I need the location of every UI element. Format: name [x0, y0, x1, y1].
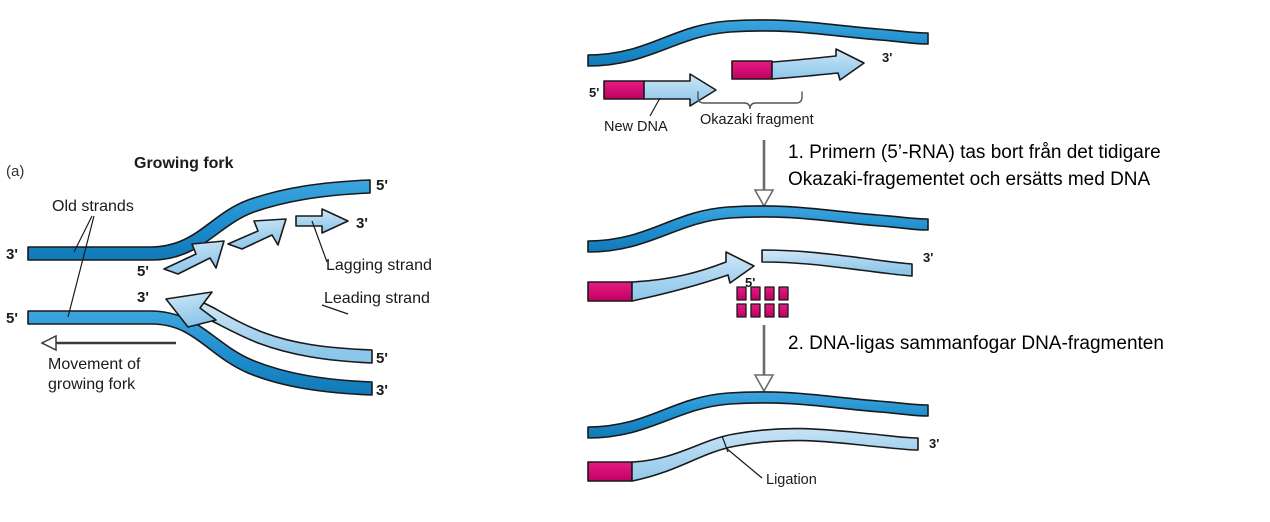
lagging-arrow-2 [228, 219, 286, 249]
ligation-leader [726, 448, 762, 478]
rna-block [765, 304, 774, 317]
step0-template-strand [588, 20, 928, 66]
old-strands-leader-bottom [68, 216, 94, 317]
panel-a-title: Growing fork [134, 155, 234, 172]
step1-okazaki-strand [762, 250, 912, 276]
step0-okazaki-arrow [772, 49, 864, 80]
figure-canvas: (a) Growing fork Lagging strand Leading … [0, 0, 1270, 522]
step1-primer-left [588, 282, 632, 301]
step-arrow-2-head-icon [755, 375, 773, 391]
rna-block [779, 287, 788, 300]
step2-primer-left [588, 462, 632, 481]
new-dna-leader [650, 98, 660, 116]
step-arrow-1-head-icon [755, 190, 773, 206]
movement-label-line2: growing fork [48, 376, 136, 393]
panel-a-letter: (a) [6, 163, 24, 180]
step1-label-3prime: 3' [923, 250, 933, 265]
step0-primer-left [604, 81, 644, 99]
step1-template-strand [588, 206, 928, 252]
dna-replication-diagram: (a) Growing fork Lagging strand Leading … [0, 0, 1270, 522]
step-arrow-2 [755, 325, 773, 391]
ligation-label: Ligation [766, 472, 817, 488]
label-5prime-leading-new: 5' [376, 350, 388, 367]
label-5prime-template-left: 5' [6, 310, 18, 327]
leading-strand-label: Leading strand [324, 290, 430, 307]
rna-block [765, 287, 774, 300]
panel-b-step0: New DNA Okazaki fragment 5' 3' [588, 20, 928, 135]
okazaki-fragment-label: Okazaki fragment [700, 112, 814, 128]
caption-1-line-2: Okazaki-fragementet och ersätts med DNA [788, 169, 1151, 190]
movement-arrow-head-icon [42, 336, 56, 350]
rna-block [779, 304, 788, 317]
label-5prime-lagging-new: 5' [137, 263, 149, 280]
label-5prime-template-topright: 5' [376, 177, 388, 194]
step0-label-3prime: 3' [882, 50, 892, 65]
step0-new-dna-arrow [644, 74, 716, 106]
rna-block [737, 304, 746, 317]
step1-label-5prime: 5' [745, 275, 755, 290]
lagging-strand-label: Lagging strand [326, 257, 432, 274]
old-strands-label: Old strands [52, 198, 134, 215]
caption-2-line-1: 2. DNA-ligas sammanfogar DNA-fragmenten [788, 333, 1164, 354]
panel-a: (a) Growing fork Lagging strand Leading … [6, 155, 432, 399]
step2-label-3prime: 3' [929, 436, 939, 451]
new-dna-label: New DNA [604, 119, 668, 135]
label-3prime-leading-new: 3' [137, 289, 149, 306]
label-3prime-template-left: 3' [6, 246, 18, 263]
step-arrow-1 [755, 140, 773, 206]
lagging-arrow-3 [296, 209, 348, 233]
step0-label-5prime: 5' [589, 85, 599, 100]
panel-b-step2: Ligation 3' [588, 392, 939, 488]
step0-primer-okazaki [732, 61, 772, 79]
step1-new-dna-arrow [632, 252, 754, 301]
caption-1-line-1: 1. Primern (5’-RNA) tas bort från det ti… [788, 142, 1161, 163]
okazaki-bracket [698, 92, 802, 109]
panel-b-step1: 5' 3' [588, 206, 933, 317]
label-3prime-template-bottomright: 3' [376, 382, 388, 399]
label-3prime-lagging-new: 3' [356, 215, 368, 232]
rna-block [751, 304, 760, 317]
movement-label-line1: Movement of [48, 356, 141, 373]
removed-rna-nucleotide-blocks [737, 287, 788, 317]
